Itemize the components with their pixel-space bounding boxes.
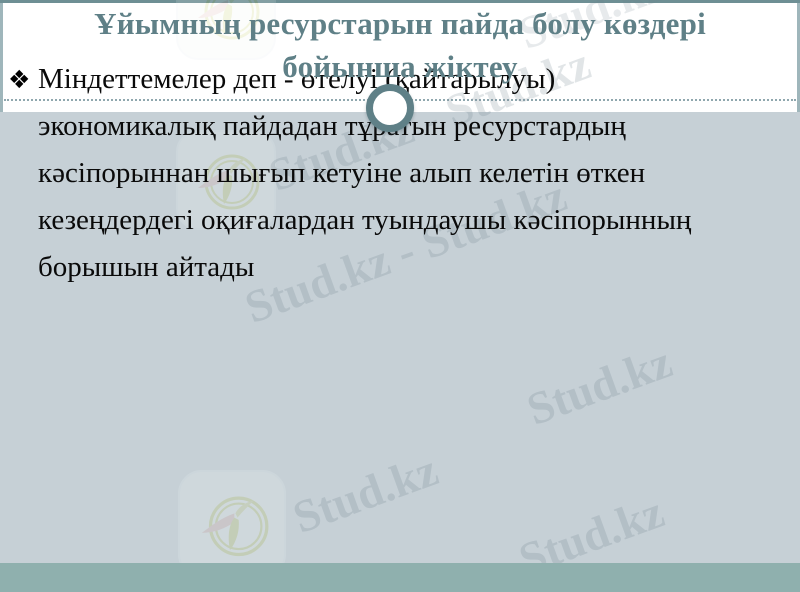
footer-band — [0, 563, 800, 592]
slide-title: Ұйымның ресурстарын пайда болу көздері б… — [14, 2, 786, 88]
slide-title-line: бойынша жіктеу — [14, 45, 786, 88]
title-left-rule — [0, 3, 3, 112]
decorative-ring — [366, 84, 414, 132]
slide-title-line: Ұйымның ресурстарын пайда болу көздері — [14, 2, 786, 45]
presentation-slide: Stud.kz - Stud.kz Stud.kz - Stud.kz Stud… — [0, 0, 800, 592]
